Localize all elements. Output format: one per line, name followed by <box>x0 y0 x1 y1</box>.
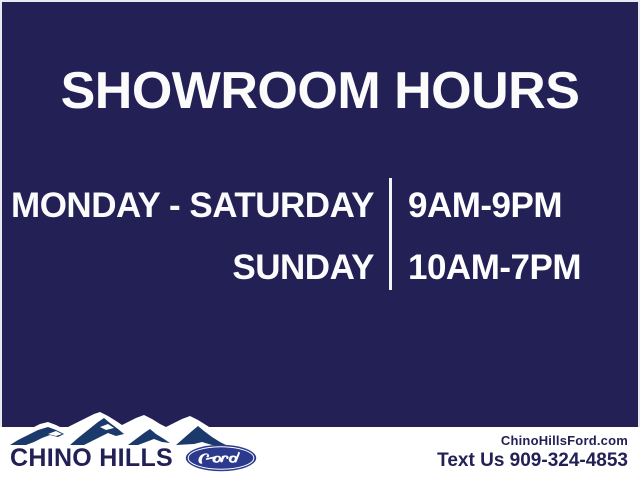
hours-table: MONDAY - SATURDAY 9AM-9PM SUNDAY 10AM-7P… <box>0 178 640 290</box>
page-title: SHOWROOM HOURS <box>0 60 640 122</box>
website-label[interactable]: ChinoHillsFord.com <box>437 433 628 449</box>
brand-name-label: CHINO HILLS <box>10 444 173 473</box>
hours-time-value: 9AM-9PM <box>408 186 562 226</box>
panel-top-edge <box>0 0 640 2</box>
phone-label[interactable]: Text Us 909-324-4853 <box>437 449 628 472</box>
table-row: MONDAY - SATURDAY 9AM-9PM <box>0 178 640 234</box>
mountains-icon <box>4 411 236 445</box>
table-row: SUNDAY 10AM-7PM <box>0 240 640 296</box>
hours-days-label: SUNDAY <box>0 248 374 288</box>
hours-days-label: MONDAY - SATURDAY <box>0 186 374 226</box>
brand-line: CHINO HILLS <box>10 443 257 473</box>
contact-block: ChinoHillsFord.com Text Us 909-324-4853 <box>437 433 628 472</box>
hours-time-value: 10AM-7PM <box>408 248 581 288</box>
ford-logo-icon <box>185 444 257 472</box>
dealer-logo: CHINO HILLS <box>4 411 254 480</box>
showroom-hours-sign: SHOWROOM HOURS MONDAY - SATURDAY 9AM-9PM… <box>0 0 640 480</box>
footer-bar: CHINO HILLS ChinoHillsFord.com <box>0 427 640 480</box>
